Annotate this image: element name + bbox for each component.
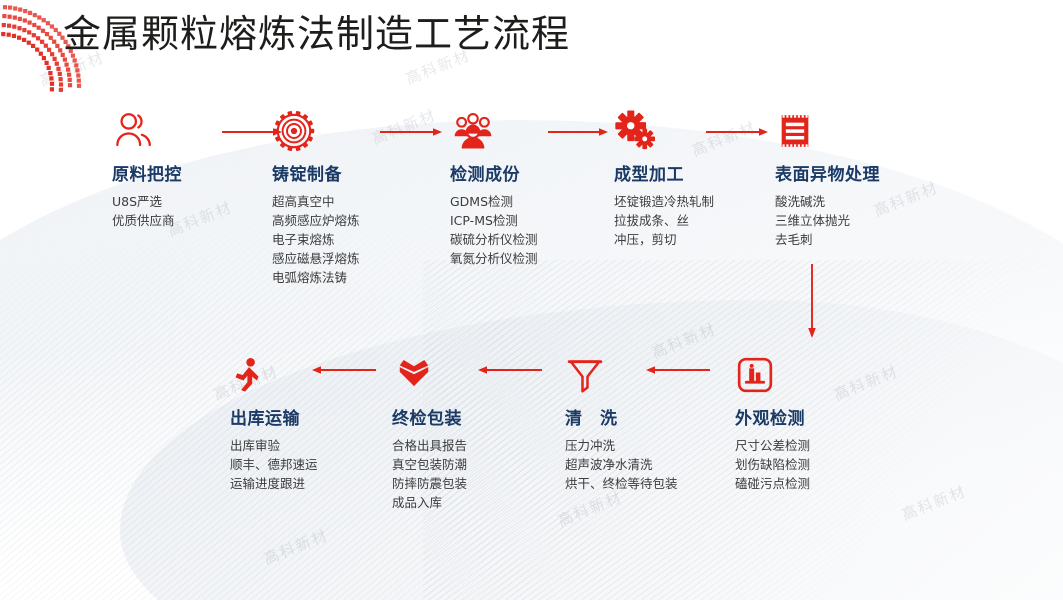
step-detail-line: 氧氮分析仪检测	[450, 249, 608, 268]
step-detail-line: GDMS检测	[450, 192, 608, 211]
step-detail-list: 尺寸公差检测划伤缺陷检测磕碰污点检测	[735, 436, 885, 493]
step-title: 清 洗	[565, 404, 725, 429]
flow-arrow-left	[646, 364, 710, 376]
process-flow-diagram: 原料把控U8S严选优质供应商 铸锭制备超高真空中高频感应炉熔炼电子束熔炼感应磁悬…	[0, 0, 1063, 600]
step-title: 终检包装	[392, 404, 552, 429]
step-detail-list: 坯锭锻造冷热轧制拉拔成条、丝冲压，剪切	[614, 192, 766, 249]
step-detail-line: 真空包装防潮	[392, 455, 552, 474]
step-detail-list: 出库审验顺丰、德邦速运运输进度跟进	[230, 436, 380, 493]
flow-arrow-down	[806, 264, 818, 338]
step-detail-list: 压力冲洗超声波净水清洗烘干、终检等待包装	[565, 436, 725, 493]
step-detail-line: U8S严选	[112, 192, 262, 211]
step-detail-line: 出库审验	[230, 436, 380, 455]
step-detail-line: 拉拔成条、丝	[614, 211, 766, 230]
step-detail-line: 尺寸公差检测	[735, 436, 885, 455]
step-title: 成型加工	[614, 160, 766, 185]
step-title: 出库运输	[230, 404, 380, 429]
step-detail-line: 电弧熔炼法铸	[272, 268, 444, 287]
step-title: 铸锭制备	[272, 160, 444, 185]
step-detail-line: 烘干、终检等待包装	[565, 474, 725, 493]
step-detail-line: 超声波净水清洗	[565, 455, 725, 474]
furnace-box-icon	[735, 352, 885, 398]
document-lines-icon	[775, 108, 947, 154]
step-detail-list: 酸洗碱洗三维立体抛光去毛刺	[775, 192, 947, 249]
step-detail-line: 超高真空中	[272, 192, 444, 211]
step-title: 检测成份	[450, 160, 608, 185]
flow-arrow-right	[380, 126, 442, 138]
step-detail-line: 优质供应商	[112, 211, 262, 230]
flow-arrow-left	[312, 364, 376, 376]
step-detail-line: 去毛刺	[775, 230, 947, 249]
step-title: 表面异物处理	[775, 160, 947, 185]
step-detail-line: 冲压，剪切	[614, 230, 766, 249]
flow-arrow-left	[478, 364, 542, 376]
step-detail-line: 坯锭锻造冷热轧制	[614, 192, 766, 211]
step-title: 原料把控	[112, 160, 262, 185]
flow-step-surface-treatment[interactable]: 表面异物处理酸洗碱洗三维立体抛光去毛刺	[775, 108, 947, 249]
flow-step-final-inspection-packaging[interactable]: 终检包装合格出具报告真空包装防潮防摔防震包装成品入库	[392, 352, 552, 512]
step-detail-line: 合格出具报告	[392, 436, 552, 455]
step-detail-line: 碳硫分析仪检测	[450, 230, 608, 249]
step-detail-list: 合格出具报告真空包装防潮防摔防震包装成品入库	[392, 436, 552, 512]
step-detail-line: 运输进度跟进	[230, 474, 380, 493]
step-detail-line: 划伤缺陷检测	[735, 455, 885, 474]
step-detail-line: 顺丰、德邦速运	[230, 455, 380, 474]
step-detail-line: 防摔防震包装	[392, 474, 552, 493]
step-detail-line: 高频感应炉熔炼	[272, 211, 444, 230]
step-detail-line: 压力冲洗	[565, 436, 725, 455]
step-detail-line: 成品入库	[392, 493, 552, 512]
step-detail-line: ICP-MS检测	[450, 211, 608, 230]
step-detail-line: 三维立体抛光	[775, 211, 947, 230]
step-detail-list: 超高真空中高频感应炉熔炼电子束熔炼感应磁悬浮熔炼电弧熔炼法铸	[272, 192, 444, 287]
step-title: 外观检测	[735, 404, 885, 429]
step-detail-line: 磕碰污点检测	[735, 474, 885, 493]
step-detail-list: U8S严选优质供应商	[112, 192, 262, 230]
flow-arrow-right	[706, 126, 768, 138]
step-detail-line: 感应磁悬浮熔炼	[272, 249, 444, 268]
step-detail-line: 电子束熔炼	[272, 230, 444, 249]
flow-arrow-right	[222, 126, 282, 138]
step-detail-line: 酸洗碱洗	[775, 192, 947, 211]
flow-arrow-right	[548, 126, 608, 138]
flow-step-appearance-inspection[interactable]: 外观检测尺寸公差检测划伤缺陷检测磕碰污点检测	[735, 352, 885, 493]
step-detail-list: GDMS检测ICP-MS检测碳硫分析仪检测氧氮分析仪检测	[450, 192, 608, 268]
